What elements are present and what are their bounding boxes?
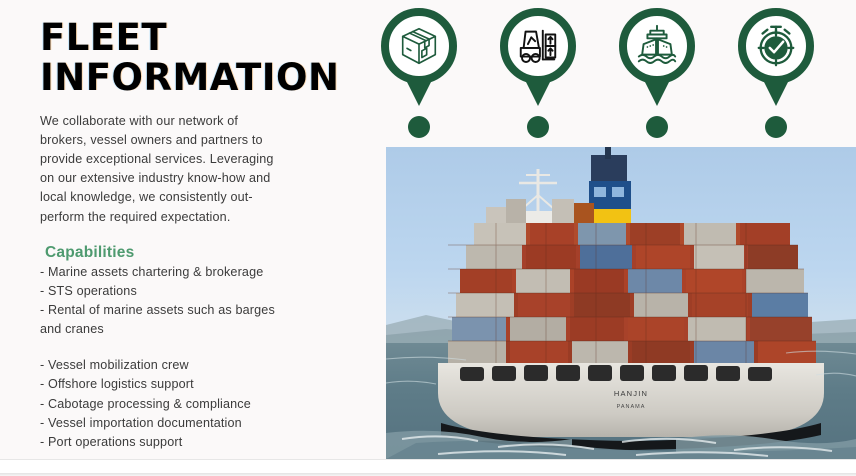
stopwatch-icon [753,23,799,69]
capabilities-list-group-1: - Marine assets chartering & brokerage -… [40,263,340,340]
container-ship-illustration: HANJIN PANAMA [386,147,856,459]
pin-dot [765,116,787,138]
intro-paragraph: We collaborate with our network of broke… [40,112,280,227]
list-item: - Port operations support [40,433,290,452]
pin-tail [406,80,432,106]
pin-badge-package[interactable] [376,8,462,140]
forklift-icon [515,23,561,69]
pin-tail [525,80,551,106]
list-item: - Vessel importation documentation [40,414,290,433]
pin-dot [646,116,668,138]
slide-canvas: FLEET INFORMATION We collaborate with ou… [0,0,856,476]
capabilities-heading: Capabilities [45,244,340,262]
container-ship-photo: HANJIN PANAMA [386,147,856,459]
text-column: FLEET INFORMATION We collaborate with ou… [40,18,340,452]
pin-tail [763,80,789,106]
pin-badge-row [376,8,856,140]
pin-tail [644,80,670,106]
list-item: - Vessel mobilization crew [40,356,290,375]
vessel-port-text: PANAMA [617,404,646,410]
pin-badge-ship[interactable] [614,8,700,140]
pin-circle [381,8,457,84]
pin-circle [738,8,814,84]
ship-icon [634,23,680,69]
pin-circle [500,8,576,84]
page-title-line-1: FLEET [40,18,340,58]
page-title-line-2: INFORMATION [40,58,340,98]
pin-badge-stopwatch[interactable] [733,8,819,140]
list-item: - Offshore logistics support [40,375,290,394]
list-item: - Rental of marine assets such as barges… [40,301,290,339]
pin-dot [408,116,430,138]
capabilities-list-group-2: - Vessel mobilization crew - Offshore lo… [40,356,340,452]
package-box-icon [396,23,442,69]
list-spacer [40,339,340,355]
page-title: FLEET INFORMATION [40,18,340,98]
vessel-name-text: HANJIN [614,389,648,398]
pin-badge-forklift[interactable] [495,8,581,140]
list-item: - Cabotage processing & compliance [40,395,290,414]
list-item: - STS operations [40,282,290,301]
pin-circle [619,8,695,84]
pin-dot [527,116,549,138]
list-item: - Marine assets chartering & brokerage [40,263,290,282]
